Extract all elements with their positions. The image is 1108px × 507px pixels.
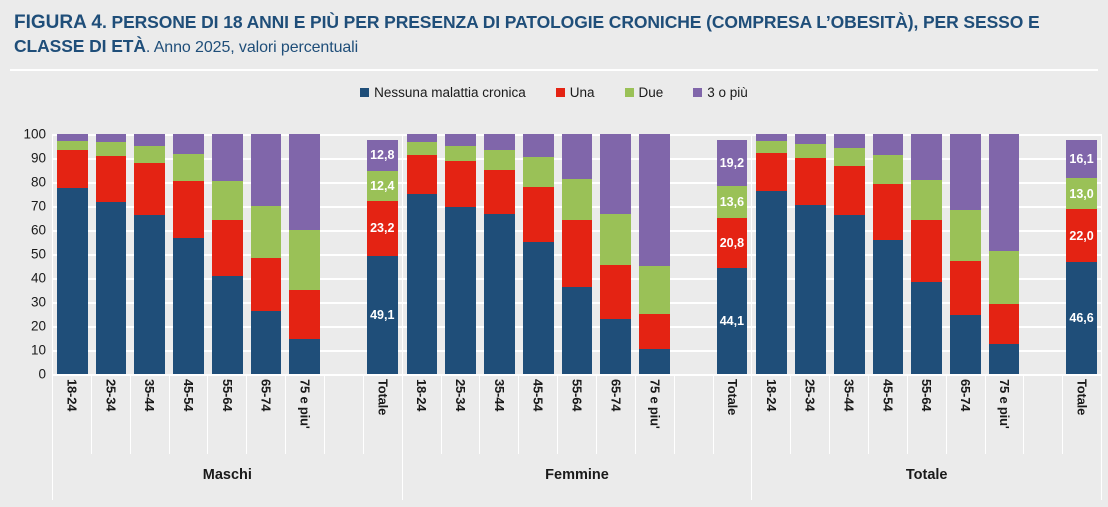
- bar-spacer: [674, 134, 713, 374]
- bar-segment-tre-o-piu: 12,8: [367, 140, 398, 171]
- bar-segment-una: [756, 153, 787, 192]
- bar-segment-tre-o-piu: [484, 134, 515, 150]
- legend-item[interactable]: Due: [625, 85, 664, 100]
- bar-segment-tre-o-piu: [950, 134, 981, 210]
- bar-segment-nessuna: [484, 214, 515, 374]
- stacked-bar[interactable]: [134, 134, 165, 374]
- group-name-row: Maschi: [53, 454, 402, 496]
- bar-segment-una: [639, 314, 670, 349]
- bar-segment-nessuna: [445, 207, 476, 374]
- bar-segment-una: [600, 265, 631, 319]
- x-axis-tick-cell: 45-54: [169, 376, 208, 454]
- bar-spacer: [324, 134, 363, 374]
- bar-segment-una: [911, 220, 942, 282]
- bar-value-label: 22,0: [1066, 229, 1097, 243]
- bar-column[interactable]: [53, 134, 92, 374]
- bar-segment-nessuna: [834, 215, 865, 374]
- x-axis-tick-cell: [1023, 376, 1062, 454]
- stacked-bar[interactable]: [989, 134, 1020, 374]
- bar-value-label: 23,2: [367, 221, 398, 235]
- x-axis-tick-cell: 55-64: [557, 376, 596, 454]
- legend-item[interactable]: Una: [556, 85, 595, 100]
- bar-segment-due: [445, 146, 476, 161]
- x-axis-tick-cell: 65-74: [946, 376, 985, 454]
- bar-segment-tre-o-piu: [756, 134, 787, 141]
- bar-segment-due: 12,4: [367, 171, 398, 201]
- x-axis-tick-label: 18-24: [64, 379, 79, 411]
- bar-segment-nessuna: [795, 205, 826, 374]
- stacked-bar[interactable]: [950, 134, 981, 374]
- bar-segment-tre-o-piu: [834, 134, 865, 148]
- bar-column[interactable]: [791, 134, 830, 374]
- x-axis-tick-label: 75 e piu': [647, 379, 662, 429]
- bar-segment-tre-o-piu: [212, 134, 243, 181]
- bar-segment-una: [251, 258, 282, 311]
- bar-segment-due: [289, 230, 320, 290]
- stacked-bar[interactable]: [484, 134, 515, 374]
- bar-segment-nessuna: [407, 194, 438, 374]
- bar-segment-due: [873, 155, 904, 184]
- x-axis-tick-cell: 18-24: [752, 376, 790, 454]
- legend-item-label: Una: [570, 85, 595, 100]
- legend-item-label: Due: [639, 85, 664, 100]
- bar-segment-una: [57, 150, 88, 188]
- x-axis-tick-cell: 55-64: [207, 376, 246, 454]
- bar-column[interactable]: [519, 134, 558, 374]
- bar-column[interactable]: 49,123,212,412,8: [363, 134, 402, 374]
- bar-segment-due: [523, 157, 554, 187]
- x-axis-tick-label: Totale: [725, 379, 740, 415]
- y-axis: 0102030405060708090100: [14, 128, 46, 374]
- bar-column[interactable]: [635, 134, 674, 374]
- x-axis-tick-cell: 45-54: [868, 376, 907, 454]
- y-axis-tick: 0: [38, 367, 46, 382]
- legend-swatch-icon: [693, 88, 702, 97]
- stacked-bar[interactable]: [873, 134, 904, 374]
- bar-segment-una: [407, 155, 438, 194]
- stacked-bar[interactable]: [173, 134, 204, 374]
- bar-segment-nessuna: [562, 287, 593, 374]
- chart-panels: 49,123,212,412,818-2425-3435-4445-5455-6…: [52, 134, 1102, 500]
- stacked-bar[interactable]: [600, 134, 631, 374]
- group-x-axis: 18-2425-3435-4445-5455-6465-7475 e piu'T…: [53, 374, 402, 454]
- bar-segment-due: [639, 266, 670, 314]
- page-title: FIGURA 4. PERSONE DI 18 ANNI E PIÙ PER P…: [0, 0, 1108, 62]
- group-x-axis: 18-2425-3435-4445-5455-6465-7475 e piu'T…: [403, 374, 752, 454]
- x-axis-tick-cell: 55-64: [907, 376, 946, 454]
- x-axis-tick-label: 25-34: [803, 379, 818, 411]
- bar-segment-tre-o-piu: [251, 134, 282, 206]
- bar-value-label: 20,8: [717, 236, 748, 250]
- x-axis-tick-label: Totale: [375, 379, 390, 415]
- stacked-bar[interactable]: [96, 134, 127, 374]
- bar-segment-nessuna: [756, 191, 787, 374]
- bar-segment-tre-o-piu: [173, 134, 204, 154]
- bar-segment-tre-o-piu: [57, 134, 88, 141]
- bar-value-label: 13,0: [1066, 187, 1097, 201]
- stacked-bar[interactable]: [523, 134, 554, 374]
- bar-column[interactable]: [869, 134, 908, 374]
- bar-column[interactable]: [752, 134, 791, 374]
- bar-column[interactable]: [403, 134, 442, 374]
- group-bars: 49,123,212,412,8: [53, 134, 402, 374]
- legend-swatch-icon: [625, 88, 634, 97]
- bar-segment-tre-o-piu: [289, 134, 320, 230]
- bar-segment-nessuna: [251, 311, 282, 374]
- bar-segment-due: [484, 150, 515, 169]
- bar-value-label: 12,4: [367, 179, 398, 193]
- bar-segment-una: [834, 166, 865, 214]
- x-axis-tick-cell: 65-74: [596, 376, 635, 454]
- bar-segment-nessuna: [212, 276, 243, 374]
- bar-column[interactable]: [480, 134, 519, 374]
- x-axis-tick-cell: Totale: [1062, 376, 1101, 454]
- bar-segment-una: [795, 158, 826, 205]
- legend-item[interactable]: Nessuna malattia cronica: [360, 85, 526, 100]
- legend-swatch-icon: [360, 88, 369, 97]
- bar-column[interactable]: 44,120,813,619,2: [713, 134, 752, 374]
- bar-segment-tre-o-piu: [96, 134, 127, 142]
- legend-swatch-icon: [556, 88, 565, 97]
- stacked-bar[interactable]: 49,123,212,412,8: [367, 140, 398, 374]
- bar-segment-nessuna: [289, 339, 320, 374]
- bar-value-label: 13,6: [717, 195, 748, 209]
- x-axis-tick-cell: 35-44: [479, 376, 518, 454]
- bar-column[interactable]: [92, 134, 131, 374]
- x-axis-tick-cell: Totale: [363, 376, 402, 454]
- x-axis-tick-cell: [674, 376, 713, 454]
- stacked-bar[interactable]: [251, 134, 282, 374]
- bar-segment-nessuna: [911, 282, 942, 374]
- bar-segment-due: [911, 180, 942, 220]
- figure-number: FIGURA 4: [14, 12, 102, 33]
- y-axis-tick: 100: [23, 127, 46, 142]
- bar-segment-tre-o-piu: [873, 134, 904, 155]
- group-name-label: Totale: [906, 467, 948, 483]
- x-axis-tick-cell: 35-44: [130, 376, 169, 454]
- group-bars: 44,120,813,619,2: [403, 134, 752, 374]
- x-axis-tick-cell: 75 e piu': [985, 376, 1024, 454]
- legend-item[interactable]: 3 o più: [693, 85, 748, 100]
- y-axis-tick: 80: [31, 175, 46, 190]
- bar-segment-nessuna: [523, 242, 554, 374]
- bar-column[interactable]: [907, 134, 946, 374]
- chart-plot-area: 0102030405060708090100 49,123,212,412,81…: [0, 128, 1108, 507]
- bar-segment-nessuna: [639, 349, 670, 374]
- x-axis-tick-cell: 25-34: [91, 376, 130, 454]
- bar-value-label: 16,1: [1066, 152, 1097, 166]
- x-axis-tick-cell: [324, 376, 363, 454]
- bar-segment-due: [134, 146, 165, 164]
- bar-segment-due: [950, 210, 981, 261]
- bar-segment-tre-o-piu: [407, 134, 438, 142]
- x-axis-tick-label: 55-64: [919, 379, 934, 411]
- bar-segment-tre-o-piu: [562, 134, 593, 179]
- x-axis-tick-label: 35-44: [142, 379, 157, 411]
- bar-segment-una: 23,2: [367, 201, 398, 257]
- bar-column[interactable]: [558, 134, 597, 374]
- stacked-bar[interactable]: [289, 134, 320, 374]
- x-axis-tick-label: 35-44: [841, 379, 856, 411]
- bar-column[interactable]: [441, 134, 480, 374]
- stacked-bar[interactable]: [795, 134, 826, 374]
- bar-segment-nessuna: [873, 240, 904, 374]
- y-axis-tick: 20: [31, 319, 46, 334]
- bar-segment-una: 20,8: [717, 218, 748, 268]
- stacked-bar[interactable]: 44,120,813,619,2: [717, 140, 748, 374]
- x-axis-tick-label: 45-54: [531, 379, 546, 411]
- bar-segment-una: [96, 156, 127, 203]
- bar-segment-due: [212, 181, 243, 219]
- x-axis-tick-cell: 35-44: [829, 376, 868, 454]
- stacked-bar[interactable]: [639, 134, 670, 374]
- bar-segment-una: [950, 261, 981, 315]
- bar-column[interactable]: [985, 134, 1024, 374]
- bar-segment-nessuna: [57, 188, 88, 374]
- bar-column[interactable]: [130, 134, 169, 374]
- bar-column[interactable]: [946, 134, 985, 374]
- legend-item-label: Nessuna malattia cronica: [374, 85, 526, 100]
- x-axis-tick-label: 65-74: [608, 379, 623, 411]
- bar-segment-due: 13,0: [1066, 178, 1097, 209]
- legend-item-label: 3 o più: [707, 85, 748, 100]
- group-name-row: Femmine: [403, 454, 752, 496]
- bar-segment-una: [289, 290, 320, 339]
- x-axis-tick-label: 65-74: [259, 379, 274, 411]
- chart-group-maschi: 49,123,212,412,818-2425-3435-4445-5455-6…: [52, 134, 402, 500]
- bar-segment-due: [251, 206, 282, 258]
- x-axis-tick-label: 18-24: [414, 379, 429, 411]
- bar-segment-tre-o-piu: [639, 134, 670, 266]
- stacked-bar[interactable]: [562, 134, 593, 374]
- x-axis-tick-cell: 45-54: [518, 376, 557, 454]
- bar-value-label: 12,8: [367, 148, 398, 162]
- bar-segment-tre-o-piu: [445, 134, 476, 146]
- bar-segment-una: [445, 161, 476, 207]
- bar-segment-nessuna: [950, 315, 981, 374]
- bar-value-label: 19,2: [717, 156, 748, 170]
- bar-segment-tre-o-piu: [989, 134, 1020, 251]
- bar-segment-tre-o-piu: 19,2: [717, 140, 748, 186]
- y-axis-tick: 70: [31, 199, 46, 214]
- x-axis-tick-cell: 75 e piu': [285, 376, 324, 454]
- x-axis-tick-cell: 65-74: [246, 376, 285, 454]
- bar-segment-una: [134, 163, 165, 215]
- x-axis-tick-label: 25-34: [103, 379, 118, 411]
- bar-segment-nessuna: [134, 215, 165, 374]
- y-axis-tick: 90: [31, 151, 46, 166]
- bar-segment-due: [562, 179, 593, 220]
- y-axis-tick: 40: [31, 271, 46, 286]
- bar-value-label: 49,1: [367, 308, 398, 322]
- x-axis-tick-label: 18-24: [764, 379, 779, 411]
- x-axis-tick-label: 55-64: [220, 379, 235, 411]
- bar-segment-nessuna: 46,6: [1066, 262, 1097, 374]
- stacked-bar[interactable]: [756, 134, 787, 374]
- stacked-bar[interactable]: [57, 134, 88, 374]
- bar-segment-nessuna: 44,1: [717, 268, 748, 374]
- group-name-row: Totale: [752, 454, 1101, 496]
- bar-spacer: [1023, 134, 1062, 374]
- x-axis-tick-label: 25-34: [453, 379, 468, 411]
- x-axis-tick-label: 35-44: [492, 379, 507, 411]
- bar-segment-nessuna: [989, 344, 1020, 374]
- stacked-bar[interactable]: [445, 134, 476, 374]
- bar-segment-nessuna: [600, 319, 631, 374]
- group-bars: 46,622,013,016,1: [752, 134, 1101, 374]
- stacked-bar[interactable]: [212, 134, 243, 374]
- figure-subtitle: . Anno 2025, valori percentuali: [146, 39, 358, 56]
- y-axis-tick: 10: [31, 343, 46, 358]
- bar-segment-nessuna: [173, 238, 204, 374]
- chart-group-femmine: 44,120,813,619,218-2425-3435-4445-5455-6…: [402, 134, 752, 500]
- bar-column[interactable]: [285, 134, 324, 374]
- bar-segment-tre-o-piu: [134, 134, 165, 146]
- y-axis-tick: 50: [31, 247, 46, 262]
- x-axis-tick-cell: 18-24: [53, 376, 91, 454]
- x-axis-tick-label: 55-64: [570, 379, 585, 411]
- bar-column[interactable]: [247, 134, 286, 374]
- x-axis-tick-label: 65-74: [958, 379, 973, 411]
- stacked-bar[interactable]: [407, 134, 438, 374]
- bar-segment-una: [873, 184, 904, 240]
- chart-legend: Nessuna malattia cronicaUnaDue3 o più: [0, 83, 1108, 101]
- header-divider: [10, 69, 1098, 71]
- bar-segment-una: [523, 187, 554, 242]
- stacked-bar[interactable]: [834, 134, 865, 374]
- x-axis-tick-cell: 75 e piu': [635, 376, 674, 454]
- group-name-label: Maschi: [203, 467, 252, 483]
- x-axis-tick-label: 75 e piu': [298, 379, 313, 429]
- x-axis-tick-label: Totale: [1075, 379, 1090, 415]
- bar-segment-due: [57, 141, 88, 150]
- bar-segment-tre-o-piu: [795, 134, 826, 144]
- bar-segment-due: [989, 251, 1020, 304]
- bar-value-label: 46,6: [1066, 311, 1097, 325]
- x-axis-tick-label: 75 e piu': [997, 379, 1012, 429]
- x-axis-tick-label: 45-54: [880, 379, 895, 411]
- y-axis-tick: 60: [31, 223, 46, 238]
- bar-segment-due: [173, 154, 204, 181]
- bar-segment-tre-o-piu: 16,1: [1066, 140, 1097, 179]
- x-axis-tick-cell: 25-34: [441, 376, 480, 454]
- bar-segment-nessuna: 49,1: [367, 256, 398, 374]
- x-axis-tick-label: 45-54: [181, 379, 196, 411]
- x-axis-tick-cell: 18-24: [403, 376, 441, 454]
- bar-segment-nessuna: [96, 202, 127, 374]
- bar-column[interactable]: [169, 134, 208, 374]
- bar-value-label: 44,1: [717, 314, 748, 328]
- bar-segment-tre-o-piu: [911, 134, 942, 180]
- x-axis-tick-cell: Totale: [713, 376, 752, 454]
- bar-segment-due: [96, 142, 127, 155]
- bar-segment-due: 13,6: [717, 186, 748, 219]
- stacked-bar[interactable]: 46,622,013,016,1: [1066, 140, 1097, 374]
- bar-column[interactable]: [596, 134, 635, 374]
- bar-segment-una: [212, 220, 243, 276]
- bar-segment-due: [834, 148, 865, 166]
- y-axis-tick: 30: [31, 295, 46, 310]
- bar-segment-una: [562, 220, 593, 287]
- group-x-axis: 18-2425-3435-4445-5455-6465-7475 e piu'T…: [752, 374, 1101, 454]
- bar-segment-una: [484, 170, 515, 215]
- bar-segment-una: 22,0: [1066, 209, 1097, 262]
- chart-group-totale: 46,622,013,016,118-2425-3435-4445-5455-6…: [751, 134, 1102, 500]
- bar-segment-una: [989, 304, 1020, 345]
- stacked-bar[interactable]: [911, 134, 942, 374]
- group-name-label: Femmine: [545, 467, 609, 483]
- bar-segment-due: [407, 142, 438, 155]
- bar-column[interactable]: [830, 134, 869, 374]
- x-axis-tick-cell: 25-34: [790, 376, 829, 454]
- bar-segment-tre-o-piu: [523, 134, 554, 157]
- bar-segment-due: [600, 214, 631, 265]
- bar-segment-due: [795, 144, 826, 158]
- bar-column[interactable]: 46,622,013,016,1: [1062, 134, 1101, 374]
- bar-column[interactable]: [208, 134, 247, 374]
- bar-segment-due: [756, 141, 787, 152]
- bar-segment-una: [173, 181, 204, 238]
- bar-segment-tre-o-piu: [600, 134, 631, 214]
